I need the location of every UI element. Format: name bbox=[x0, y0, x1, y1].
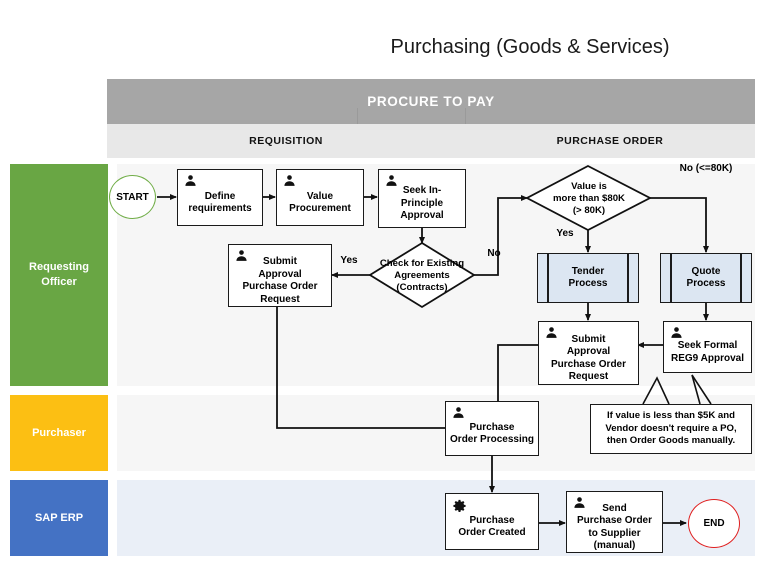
send-line4: (manual) bbox=[594, 540, 636, 551]
note-line2: Vendor doesn't require a PO, bbox=[605, 423, 736, 434]
submitright-line4: Request bbox=[569, 371, 608, 382]
poc-line2: Order Created bbox=[458, 527, 525, 538]
node-purchase-order-created-label: Purchase Order Created bbox=[458, 515, 525, 540]
person-icon bbox=[573, 496, 586, 509]
node-purchase-order-processing-label: Purchase Order Processing bbox=[450, 422, 534, 447]
node-seek-formal-reg9-approval[interactable]: Seek Formal REG9 Approval bbox=[663, 321, 752, 373]
node-seek-in-principle-approval[interactable]: Seek In- Principle Approval bbox=[378, 169, 466, 228]
person-icon bbox=[545, 326, 558, 339]
send-line1: Send bbox=[602, 503, 626, 514]
phase-divider-secondary bbox=[357, 108, 358, 124]
node-purchase-order-created[interactable]: Purchase Order Created bbox=[445, 493, 539, 550]
lane-label-sap-erp: SAP ERP bbox=[10, 480, 108, 556]
valueproc-line2: Procurement bbox=[289, 203, 351, 214]
submitright-line1: Submit bbox=[572, 334, 606, 345]
node-submit-approval-po-request-left[interactable]: Submit Approval Purchase Order Request bbox=[228, 244, 332, 307]
node-submit-approval-po-request-right[interactable]: Submit Approval Purchase Order Request bbox=[538, 321, 639, 385]
pop-line2: Order Processing bbox=[450, 434, 534, 445]
person-icon bbox=[283, 174, 296, 187]
flowchart-canvas: Purchasing (Goods & Services) PROCURE TO… bbox=[0, 0, 768, 576]
person-icon bbox=[452, 406, 465, 419]
subprocess-bar-right bbox=[627, 254, 629, 302]
subprocess-bar-right bbox=[740, 254, 742, 302]
phase-band-requisition: REQUISITION bbox=[107, 124, 465, 158]
define-line2: requirements bbox=[188, 203, 251, 214]
quote-line2: Process bbox=[687, 278, 726, 289]
node-tender-process-label: Tender Process bbox=[569, 266, 608, 291]
valueproc-line1: Value bbox=[307, 191, 333, 202]
node-value-procurement[interactable]: Value Procurement bbox=[276, 169, 364, 226]
node-seek-formal-reg9-label: Seek Formal REG9 Approval bbox=[671, 340, 744, 365]
quote-line1: Quote bbox=[692, 266, 721, 277]
seek-line2: Principle bbox=[401, 198, 443, 209]
edge-label-value-yes: Yes bbox=[548, 228, 582, 240]
tender-line2: Process bbox=[569, 278, 608, 289]
seek-line1: Seek In- bbox=[403, 185, 441, 196]
subprocess-bar-left bbox=[670, 254, 672, 302]
submitleft-line3: Purchase Order bbox=[242, 281, 317, 292]
lane-label-purchaser: Purchaser bbox=[10, 395, 108, 471]
node-quote-process[interactable]: Quote Process bbox=[660, 253, 752, 303]
node-send-po-to-supplier[interactable]: Send Purchase Order to Supplier (manual) bbox=[566, 491, 663, 553]
seek-line3: Approval bbox=[400, 210, 443, 221]
phase-band-purchase-order: PURCHASE ORDER bbox=[465, 124, 755, 158]
submitleft-line2: Approval bbox=[258, 269, 301, 280]
person-icon bbox=[670, 326, 683, 339]
define-line1: Define bbox=[205, 191, 236, 202]
node-start[interactable]: START bbox=[109, 175, 156, 219]
person-icon bbox=[385, 174, 398, 187]
send-line3: to Supplier bbox=[588, 528, 640, 539]
note-text: If value is less than $5K and Vendor doe… bbox=[605, 410, 736, 449]
edge-label-value-no: No (<=80K) bbox=[658, 163, 754, 175]
subprocess-bar-left bbox=[547, 254, 549, 302]
note-line1: If value is less than $5K and bbox=[607, 410, 735, 421]
submitright-line2: Approval bbox=[567, 346, 610, 357]
submitleft-line4: Request bbox=[260, 294, 299, 305]
edge-label-agreements-no: No bbox=[480, 248, 508, 260]
lane-label-requesting-officer: Requesting Officer bbox=[10, 164, 108, 386]
node-value-procurement-label: Value Procurement bbox=[289, 191, 351, 216]
reg9-line1: Seek Formal bbox=[678, 340, 737, 351]
node-tender-process[interactable]: Tender Process bbox=[537, 253, 639, 303]
submitleft-line1: Submit bbox=[263, 256, 297, 267]
page-title: Purchasing (Goods & Services) bbox=[330, 36, 730, 59]
submitright-line3: Purchase Order bbox=[551, 359, 626, 370]
note-line3: then Order Goods manually. bbox=[607, 435, 735, 446]
node-submit-approval-left-label: Submit Approval Purchase Order Request bbox=[242, 256, 317, 306]
poc-line1: Purchase bbox=[469, 515, 514, 526]
node-seek-in-principle-label: Seek In- Principle Approval bbox=[400, 185, 443, 223]
person-icon bbox=[184, 174, 197, 187]
node-submit-approval-right-label: Submit Approval Purchase Order Request bbox=[551, 334, 626, 384]
phase-band-procure-to-pay: PROCURE TO PAY bbox=[107, 79, 755, 124]
person-icon bbox=[235, 249, 248, 262]
node-define-requirements-label: Define requirements bbox=[188, 191, 251, 216]
gear-icon bbox=[453, 499, 466, 512]
node-define-requirements[interactable]: Define requirements bbox=[177, 169, 263, 226]
send-line2: Purchase Order bbox=[577, 515, 652, 526]
pop-line1: Purchase bbox=[469, 422, 514, 433]
node-end[interactable]: END bbox=[688, 499, 740, 548]
tender-line1: Tender bbox=[572, 266, 605, 277]
reg9-line2: REG9 Approval bbox=[671, 353, 744, 364]
node-send-po-label: Send Purchase Order to Supplier (manual) bbox=[577, 503, 652, 553]
node-quote-process-label: Quote Process bbox=[687, 266, 726, 291]
node-purchase-order-processing[interactable]: Purchase Order Processing bbox=[445, 401, 539, 456]
edge-label-agreements-yes: Yes bbox=[334, 255, 364, 267]
note-manual-order-condition: If value is less than $5K and Vendor doe… bbox=[590, 404, 752, 454]
